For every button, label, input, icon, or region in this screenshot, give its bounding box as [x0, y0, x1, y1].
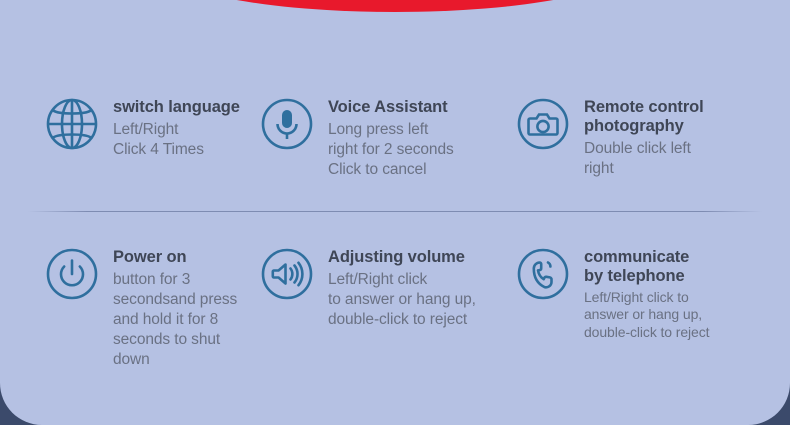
feature-item-remote-photography: Remote control photography Double click …: [514, 96, 790, 180]
feature-text-block: Power on button for 3 secondsand press a…: [113, 246, 258, 370]
feature-item-voice-assistant: Voice Assistant Long press left right fo…: [258, 96, 514, 180]
feature-text-block: Remote control photography Double click …: [584, 96, 704, 179]
telephone-icon: [515, 246, 571, 302]
feature-item-power-on: Power on button for 3 secondsand press a…: [0, 246, 258, 370]
feature-instructions-panel: switch language Left/Right Click 4 Times…: [0, 0, 790, 425]
feature-row-1: switch language Left/Right Click 4 Times…: [0, 96, 790, 180]
row-divider: [28, 211, 762, 212]
feature-title: switch language: [113, 98, 240, 117]
feature-description: Left/Right click to answer or hang up, d…: [584, 289, 709, 342]
feature-description: Long press left right for 2 seconds Clic…: [328, 120, 454, 180]
feature-title: Voice Assistant: [328, 98, 454, 117]
power-icon: [44, 246, 100, 302]
red-banner-arc: [160, 0, 630, 12]
speaker-volume-icon: [259, 246, 315, 302]
microphone-icon: [259, 96, 315, 152]
feature-item-adjusting-volume: Adjusting volume Left/Right click to ans…: [258, 246, 514, 370]
feature-text-block: Adjusting volume Left/Right click to ans…: [328, 246, 476, 330]
feature-description: Left/Right click to answer or hang up, d…: [328, 270, 476, 330]
feature-item-switch-language: switch language Left/Right Click 4 Times: [0, 96, 258, 180]
feature-title: communicate by telephone: [584, 248, 709, 287]
feature-description: Double click left right: [584, 139, 704, 179]
feature-text-block: Voice Assistant Long press left right fo…: [328, 96, 454, 180]
feature-text-block: switch language Left/Right Click 4 Times: [113, 96, 240, 160]
feature-text-block: communicate by telephone Left/Right clic…: [584, 246, 709, 342]
feature-title: Adjusting volume: [328, 248, 476, 267]
feature-title: Power on: [113, 248, 258, 267]
feature-row-2: Power on button for 3 secondsand press a…: [0, 246, 790, 370]
feature-item-communicate-by-telephone: communicate by telephone Left/Right clic…: [514, 246, 790, 370]
feature-title: Remote control photography: [584, 98, 704, 137]
globe-icon: [44, 96, 100, 152]
feature-description: Left/Right Click 4 Times: [113, 120, 240, 160]
camera-icon: [515, 96, 571, 152]
feature-description: button for 3 secondsand press and hold i…: [113, 270, 258, 370]
